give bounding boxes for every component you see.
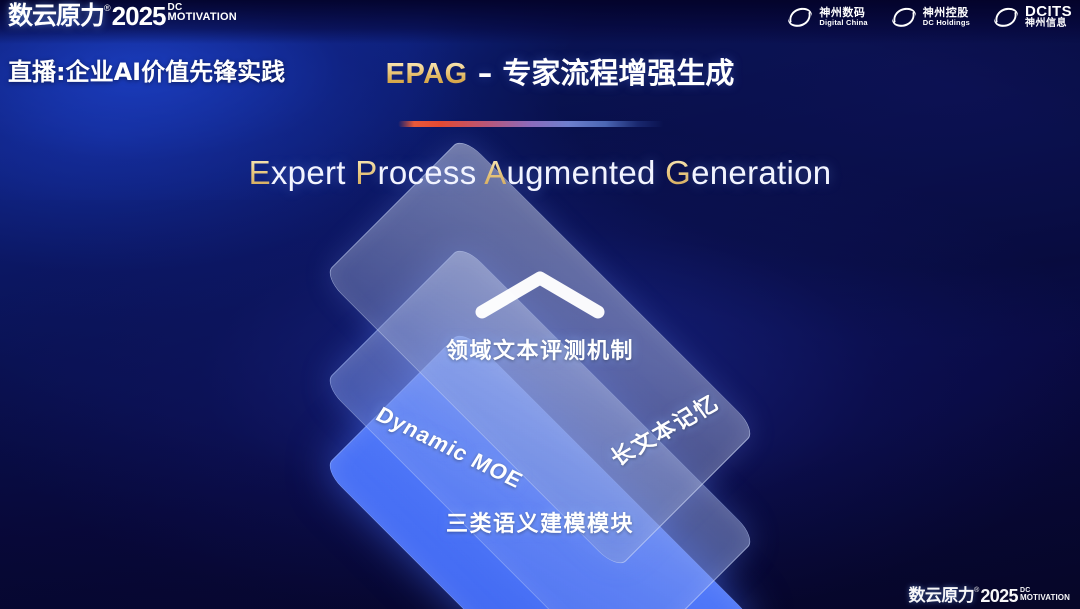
- partner-name-cn: 神州控股: [923, 7, 970, 19]
- partner-name-en: DC Holdings: [923, 19, 970, 27]
- partner-logo-dcits: DCITS 神州信息: [992, 4, 1072, 30]
- partner-logo-text: DCITS 神州信息: [1025, 4, 1072, 30]
- partner-logo-group: 神州数码 Digital China 神州控股 DC Holdings DCIT…: [786, 4, 1072, 30]
- partner-name-en: Digital China: [819, 19, 867, 27]
- diagram-layer-top-label: 领域文本评测机制: [0, 333, 1080, 365]
- live-stream-label: 直播:企业AI价值先锋实践: [8, 52, 285, 87]
- watermark-year: 2025: [980, 587, 1018, 605]
- subtitle-part: eneration: [691, 154, 831, 191]
- partner-logo-dc-holdings: 神州控股 DC Holdings: [890, 5, 970, 29]
- subtitle: Expert Process Augmented Generation: [0, 152, 1080, 194]
- gradient-divider: [398, 121, 664, 127]
- subtitle-part: G: [665, 154, 691, 191]
- partner-name-cn: 神州信息: [1025, 19, 1072, 30]
- watermark-cn: 数云原力: [909, 587, 975, 605]
- watermark-registered: ®: [974, 587, 979, 594]
- diagram-layer-bottom-label: 三类语义建模模块: [0, 506, 1080, 538]
- swirl-icon: [992, 5, 1020, 29]
- title-separator: –: [468, 56, 503, 90]
- watermark-motivation: MOTIVATION: [1020, 594, 1070, 602]
- subtitle-part: P: [355, 154, 377, 191]
- slide-canvas: 数云原力 ® 2025 DC MOTIVATION 直播:企业AI价值先锋实践 …: [0, 0, 1080, 609]
- partner-logo-text: 神州数码 Digital China: [819, 7, 867, 26]
- partner-logo-digital-china: 神州数码 Digital China: [786, 5, 867, 29]
- brand-logo-year: 2025: [112, 3, 166, 29]
- brand-logo-registered: ®: [104, 3, 111, 13]
- partner-name-cn: 神州数码: [819, 7, 867, 19]
- subtitle-part: E: [249, 154, 271, 191]
- partner-logo-text: 神州控股 DC Holdings: [923, 7, 970, 26]
- brand-logo-dc-motivation: DC MOTIVATION: [168, 3, 237, 23]
- swirl-icon: [786, 5, 814, 29]
- brand-logo-motivation: MOTIVATION: [168, 12, 237, 23]
- partner-name-en: DCITS: [1025, 4, 1072, 19]
- brand-logo: 数云原力 ® 2025 DC MOTIVATION: [8, 3, 237, 29]
- subtitle-part: rocess: [378, 154, 485, 191]
- watermark-dc-motivation: DC MOTIVATION: [1020, 587, 1070, 602]
- chevron-up-icon: [474, 268, 606, 320]
- subtitle-part: ugmented: [507, 154, 666, 191]
- subtitle-part: A: [484, 154, 506, 191]
- title-chinese: 专家流程增强生成: [502, 56, 734, 90]
- subtitle-part: xpert: [271, 154, 355, 191]
- watermark-logo: 数云原力 ® 2025 DC MOTIVATION: [909, 587, 1070, 605]
- swirl-icon: [890, 5, 918, 29]
- brand-logo-cn: 数云原力: [8, 3, 104, 29]
- title-acronym: EPAG: [386, 58, 468, 90]
